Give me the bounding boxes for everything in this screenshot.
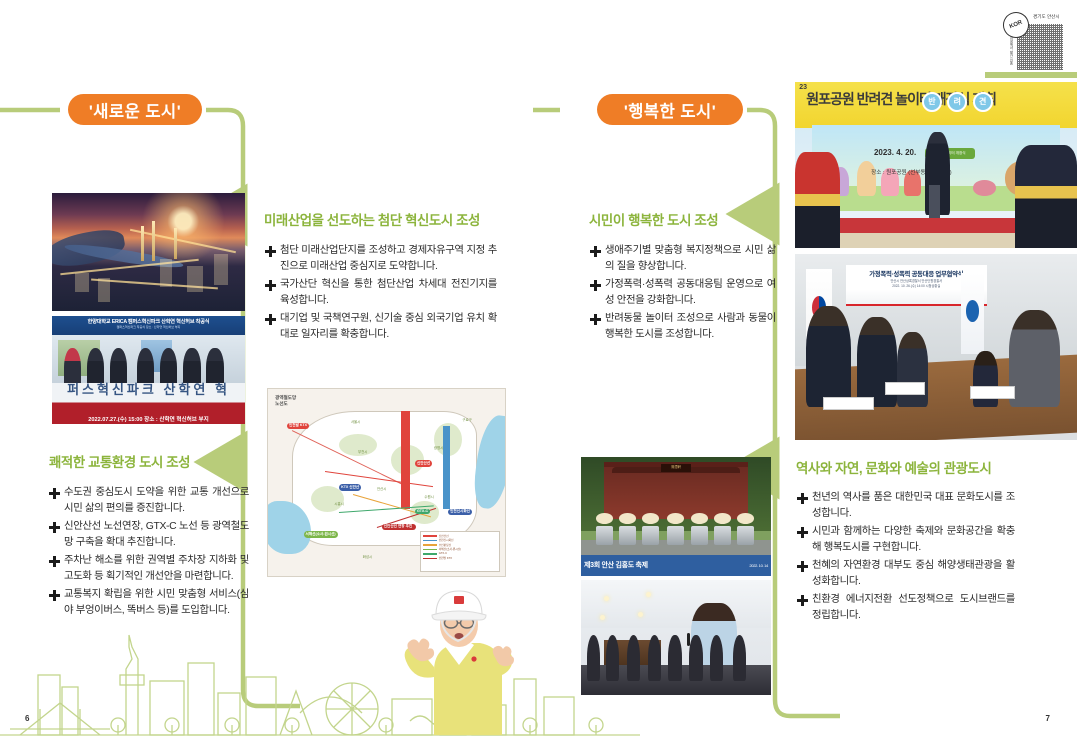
festival-caption-text: 제3회 안산 김홍도 축제: [584, 560, 648, 570]
map-label-gtxc: GTX-C: [415, 509, 430, 515]
legend-item: 서해선(소사-원시선): [439, 547, 461, 551]
bullet-text: 대기업 및 국책연구원, 신기술 중심 외국기업 유치 확대로 일자리를 확충합…: [280, 311, 497, 342]
legend-item: 신안산선: [439, 534, 449, 538]
map-city-gwangmyeong: 광명시: [434, 445, 443, 450]
bullet-text: 국가산단 혁신을 통한 첨단산업 차세대 전진기지를 육성합니다.: [280, 277, 497, 308]
ceremony-banner-title: 한양대학교 ERICA 캠퍼스혁신파크 산학연 혁신허브 착공식: [52, 316, 245, 325]
bullet-text: 주차난 해소를 위한 권역별 주차장 지하화 및 고도화 등 획기적인 개선안을…: [64, 553, 249, 584]
map-city-seoul: 서울시: [351, 419, 360, 424]
dogpark-date: 2023. 4. 20.: [874, 148, 916, 157]
plus-bullet-icon: [49, 554, 60, 569]
map-legend: 신안산선 인천신시화선 수인분당선 서해선(소사-원시선) GTX-C 인천발 …: [420, 531, 501, 572]
section-pill-new-city: '새로운 도시': [68, 94, 202, 125]
plus-bullet-icon: [590, 244, 601, 259]
plus-bullet-icon: [590, 278, 601, 293]
photo-mou-signing: 가정폭력·성폭력 공동대응 업무협약식 안산시 안산상록경찰서 안산단원경찰서 …: [795, 254, 1077, 440]
page-number-left: 6: [25, 714, 29, 723]
photo-groundbreaking-ceremony: 한양대학교 ERICA 캠퍼스혁신파크 산학연 혁신허브 착공식 캠퍼스혁신파크…: [52, 316, 245, 424]
bullet-text: 천년의 역사를 품은 대한민국 대표 문화도시를 조성합니다.: [812, 490, 1015, 521]
map-city-guro: 구로구: [462, 417, 471, 422]
map-label-ktx-sinansan: KTX 신안산: [339, 484, 361, 491]
heading-citizen-happiness: 시민이 행복한 도시 조성: [589, 209, 718, 229]
bullet-item: 교통복지 확립을 위한 시민 맞춤형 서비스(심야 부엉이버스, 똑버스 등)를…: [49, 587, 249, 618]
map-label-sinansanseon: 신안산선: [415, 460, 432, 467]
heading-traffic-environment: 쾌적한 교통환경 도시 조성: [49, 451, 190, 471]
plus-bullet-icon: [49, 486, 60, 501]
ceremony-bottom-text: 2022.07.27.(수) 15:00 장소 : 산학연 혁신허브 부지: [52, 415, 245, 423]
city-flag-icon: [961, 273, 984, 355]
bullet-item: 천혜의 자연환경 대부도 중심 해양생태관광을 활성화합니다.: [797, 558, 1015, 589]
bullet-text: 신안산선 노선연장, GTX-C 노선 등 광역철도망 구축을 확대 추진합니다…: [64, 519, 249, 550]
bullet-item: 친환경 에너지전환 선도정책으로 도시브랜드를 정립합니다.: [797, 592, 1015, 623]
festival-date: 2022. 10. 14: [749, 563, 768, 568]
paw-icon-3: 견: [973, 92, 993, 112]
plus-bullet-icon: [590, 312, 601, 327]
bullet-item: 대기업 및 국책연구원, 신기술 중심 외국기업 유치 확대로 일자리를 확충합…: [265, 311, 497, 342]
bullet-text: 천혜의 자연환경 대부도 중심 해양생태관광을 활성화합니다.: [812, 558, 1015, 589]
map-city-ansan: 안산시: [377, 486, 386, 491]
photo-gimhongdo-festival: 淸潭軒 제3회 안산 김홍도 축제 2022. 10. 14: [581, 457, 771, 576]
bullet-item: 반려동물 놀이터 조성으로 사람과 동물이 행복한 도시를 조성합니다.: [590, 311, 776, 342]
plus-bullet-icon: [265, 278, 276, 293]
map-label-incheon-line: 인천신시화선: [448, 509, 472, 516]
bullet-text: 반려동물 놀이터 조성으로 사람과 동물이 행복한 도시를 조성합니다.: [605, 311, 776, 342]
stamp-region-label: 경기도 안산시: [1033, 14, 1060, 20]
certification-stamp: KOR 경기도 안산시 시정백서 발간 인증: [1003, 10, 1065, 72]
page-number-right: 7: [1046, 714, 1050, 723]
heading-future-industry: 미래산업을 선도하는 첨단 혁신도시 조성: [264, 209, 480, 229]
map-label-incheon-ktx: 인천발 KTX: [287, 423, 309, 430]
bullet-list-traffic: 수도권 중심도시 도약을 위한 교통 개선으로 시민 삶의 편의를 증진합니다.…: [49, 485, 249, 621]
paw-icon-1: 반: [922, 92, 942, 112]
festival-plaque: 淸潭軒: [661, 464, 691, 472]
plus-bullet-icon: [797, 559, 808, 574]
map-city-siheung: 시흥시: [334, 501, 343, 506]
bullet-list-citizen: 생애주기별 맞춤형 복지정책으로 시민 삶의 질을 향상합니다. 가정폭력·성폭…: [590, 243, 776, 345]
bullet-text: 수도권 중심도시 도약을 위한 교통 개선으로 시민 삶의 편의를 증진합니다.: [64, 485, 249, 516]
bullet-item: 가정폭력·성폭력 공동대응팀 운영으로 여성 안전을 강화합니다.: [590, 277, 776, 308]
map-label-sinansan-extension: 신안산선 연장 추진: [382, 524, 416, 530]
bullet-item: 신안산선 노선연장, GTX-C 노선 등 광역철도망 구축을 확대 추진합니다…: [49, 519, 249, 550]
photo-aerial-city-night: [52, 193, 245, 311]
dogpark-title: 원포공원 반려견 놀이터 개장식 개최: [806, 89, 996, 109]
photo-mayor-cutout: [400, 585, 518, 737]
bullet-text: 시민과 함께하는 다양한 축제와 문화공간을 확충해 행복도시를 구현합니다.: [812, 524, 1015, 555]
map-city-bucheon: 부천시: [358, 449, 367, 454]
map-city-hwaseong: 화성시: [363, 554, 372, 559]
bullet-item: 천년의 역사를 품은 대한민국 대표 문화도시를 조성합니다.: [797, 490, 1015, 521]
bullet-list-future-industry: 첨단 미래산업단지를 조성하고 경제자유구역 지정 추진으로 미래산업 중심지로…: [265, 243, 497, 345]
festival-caption: 제3회 안산 김홍도 축제 2022. 10. 14: [581, 555, 771, 576]
photo-dog-park-opening: 23 원포공원 반려견 놀이터 개장식 개최 반 려 견 2023. 4. 20…: [795, 82, 1077, 248]
bullet-text: 친환경 에너지전환 선도정책으로 도시브랜드를 정립합니다.: [812, 592, 1015, 623]
map-title: 광역철도망 노선도: [275, 395, 296, 407]
legend-item: GTX-C: [439, 552, 447, 555]
bullet-item: 수도권 중심도시 도약을 위한 교통 개선으로 시민 삶의 편의를 증진합니다.: [49, 485, 249, 516]
bullet-item: 시민과 함께하는 다양한 축제와 문화공간을 확충해 행복도시를 구현합니다.: [797, 524, 1015, 555]
bullet-item: 첨단 미래산업단지를 조성하고 경제자유구역 지정 추진으로 미래산업 중심지로…: [265, 243, 497, 274]
bullet-text: 가정폭력·성폭력 공동대응팀 운영으로 여성 안전을 강화합니다.: [605, 277, 776, 308]
plus-bullet-icon: [265, 244, 276, 259]
legend-item: 수인분당선: [439, 543, 451, 547]
bullet-list-culture: 천년의 역사를 품은 대한민국 대표 문화도시를 조성합니다. 시민과 함께하는…: [797, 490, 1015, 626]
legend-item: 인천신시화선: [439, 538, 454, 542]
map-label-seohaeseon: 서해선(소사-원시선): [304, 531, 338, 538]
ceremony-big-text: 퍼스혁신파크 산학연 혁: [52, 379, 245, 398]
photo-mayor-speech: [581, 580, 771, 695]
bullet-text: 생애주기별 맞춤형 복지정책으로 시민 삶의 질을 향상합니다.: [605, 243, 776, 274]
map-city-suwon: 수원시: [424, 494, 433, 499]
plus-bullet-icon: [265, 312, 276, 327]
bullet-item: 주차난 해소를 위한 권역별 주차장 지하화 및 고도화 등 획기적인 개선안을…: [49, 553, 249, 584]
heading-culture-tourism: 역사와 자연, 문화와 예술의 관광도시: [796, 457, 991, 477]
plus-bullet-icon: [49, 588, 60, 603]
plus-bullet-icon: [797, 491, 808, 506]
bullet-text: 교통복지 확립을 위한 시민 맞춤형 서비스(심야 부엉이버스, 똑버스 등)를…: [64, 587, 249, 618]
ceremony-banner: 한양대학교 ERICA 캠퍼스혁신파크 산학연 혁신허브 착공식 캠퍼스혁신파크…: [52, 316, 245, 335]
bullet-item: 국가산단 혁신을 통한 첨단산업 차세대 전진기지를 육성합니다.: [265, 277, 497, 308]
plus-bullet-icon: [797, 593, 808, 608]
stamp-vertical-label: 시정백서 발간 인증: [1009, 36, 1014, 65]
bullet-item: 생애주기별 맞춤형 복지정책으로 시민 삶의 질을 향상합니다.: [590, 243, 776, 274]
brochure-page: KOR 경기도 안산시 시정백서 발간 인증 '새로운 도시' '행복한 도시'…: [0, 0, 1077, 737]
image-metropolitan-railway-map: 광역철도망 노선도 인천발 KTX KTX 신안산 신안산선 GTX-C 인천신…: [267, 388, 506, 577]
plus-bullet-icon: [49, 520, 60, 535]
bullet-text: 첨단 미래산업단지를 조성하고 경제자유구역 지정 추진으로 미래산업 중심지로…: [280, 243, 497, 274]
plus-bullet-icon: [797, 525, 808, 540]
legend-item: 인천발 KTX: [439, 556, 452, 560]
ceremony-banner-sub: 캠퍼스혁신파크 착공식 장소 : 산학연 혁신허브 부지: [52, 325, 245, 329]
section-pill-happy-city: '행복한 도시': [597, 94, 743, 125]
city-skyline-illustration: [0, 617, 640, 737]
